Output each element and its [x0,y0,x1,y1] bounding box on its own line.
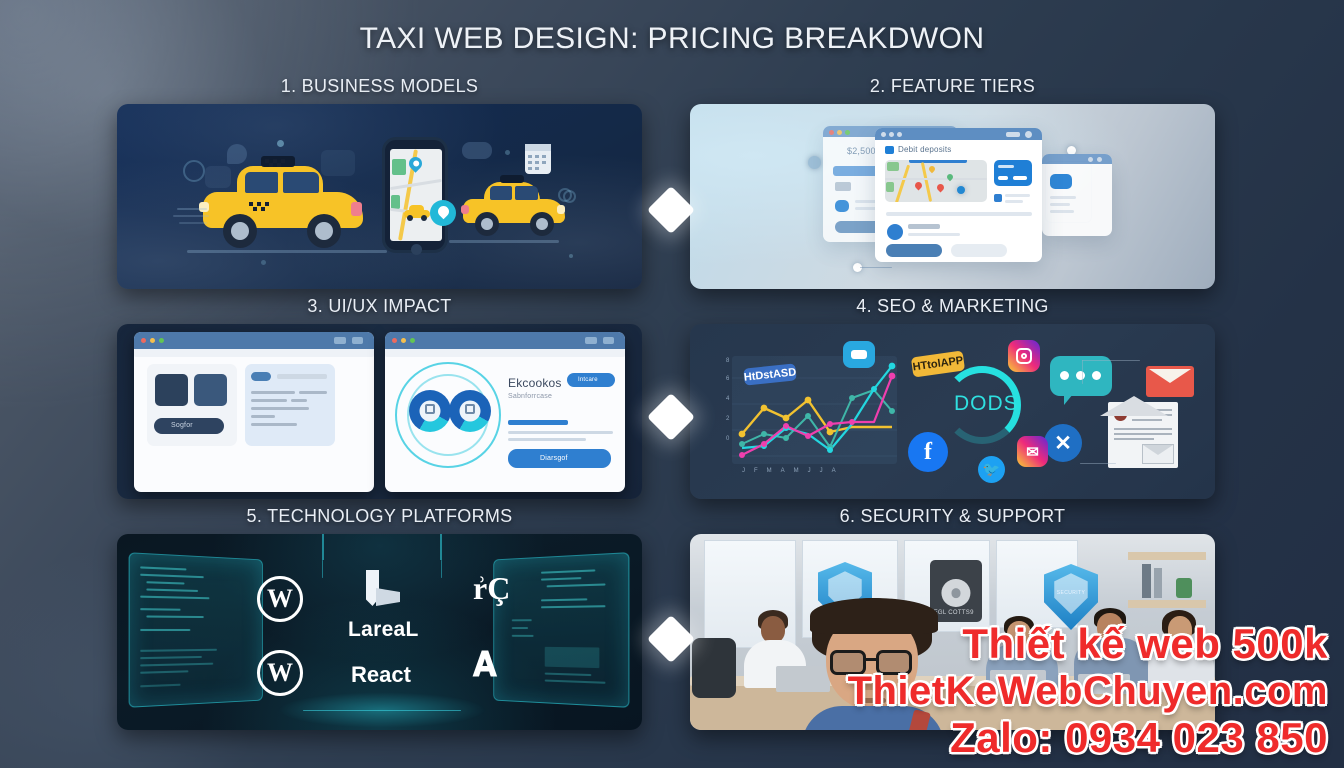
panel-left: Sogfor [147,364,237,446]
smartphone-icon [382,137,448,253]
decor-ring [558,188,572,202]
angular-logo-icon: 𝐀 [473,646,513,686]
holo-screen-left [129,552,263,708]
window-front[interactable]: Debit deposits [875,128,1042,262]
amount-label: $2,500 [847,146,876,156]
twitter-icon[interactable]: 🐦 [978,456,1005,483]
connector-line [1082,360,1083,384]
section-4-image[interactable]: 8 6 4 2 0 JFMAMJJA HtDstASD HTtolAPP DOD… [690,324,1215,499]
road-line [187,250,387,253]
section-3[interactable]: 3. UI/UX IMPACT Sogfor [117,296,642,499]
book [1142,564,1151,598]
bubble-tail [1064,394,1073,405]
book [1154,568,1162,598]
section-5-caption: 5. TECHNOLOGY PLATFORMS [117,506,642,527]
envelope-flap [1100,396,1168,416]
decor-dot [261,260,266,265]
react-logo-icon: r͗Ç [473,570,513,608]
badge-label: Intcare [578,377,598,383]
connector-line [860,267,892,268]
shelf [1128,552,1206,560]
decor-knob [808,156,821,169]
browser-right[interactable]: Ekcookos Sabnforrcase Intcare Diarsgof [385,332,625,492]
email-icon [1146,366,1194,397]
section-1[interactable]: 1. BUSINESS MODELS [117,76,642,289]
section-1-caption: 1. BUSINESS MODELS [117,76,642,97]
connector-line [1080,463,1116,464]
section-6-caption: 6. SECURITY & SUPPORT [690,506,1215,527]
plant [1176,578,1192,598]
section-5-image[interactable]: W W LareaL React r͗Ç 𝐀 [117,534,642,730]
section-2[interactable]: 2. FEATURE TIERS $2,500 [690,76,1215,289]
laravel-logo-icon [366,570,400,606]
panel-button-label: Sogfor [171,422,193,429]
watermark-line-2: ThietKeWebChuyen.com [848,669,1328,714]
decor-dot [569,254,573,258]
shelf [1128,600,1206,608]
payment-card [994,160,1032,186]
browser-left[interactable]: Sogfor [134,332,374,492]
section-3-caption: 3. UI/UX IMPACT [117,296,642,317]
section-4[interactable]: 4. SEO & MARKETING [690,296,1215,499]
section-1-image[interactable] [117,104,642,289]
section-2-caption: 2. FEATURE TIERS [690,76,1215,97]
taxi-large-icon [201,152,371,242]
section-3-image[interactable]: Sogfor [117,324,642,499]
comment-bubble-icon [1050,356,1112,396]
section-5[interactable]: 5. TECHNOLOGY PLATFORMS [117,506,642,730]
window-right [1042,154,1112,236]
window-title: Debit deposits [898,145,952,154]
subheading: Sabnforrcase [508,393,552,400]
taxi-small-icon [462,174,568,232]
speed-line [173,215,209,217]
section-2-image[interactable]: $2,500 [690,104,1215,289]
facebook-icon[interactable]: f [908,432,948,472]
shield-label: SECURITY [1050,590,1091,596]
watermark-line-1: Thiết kế web 500k [962,620,1328,668]
ceiling-beam [322,534,442,560]
location-badge-icon [430,200,456,226]
chat-bubble-icon [843,341,875,368]
mail-gradient-icon[interactable]: ✉ [1017,436,1048,467]
secondary-button[interactable] [951,244,1007,257]
watermark-line-3: Zalo: 0934 023 850 [950,714,1328,762]
avatar [887,224,903,240]
decor-dot [505,150,510,155]
section-4-caption: 4. SEO & MARKETING [690,296,1215,317]
wordpress-icon: W [257,650,303,696]
page-title: TAXI WEB DESIGN: PRICING BREAKDWON [0,22,1344,56]
primary-button[interactable] [886,244,942,257]
heading: Ekcookos [508,376,562,390]
x-icon[interactable]: ✕ [1044,424,1082,462]
map-thumbnail [885,160,987,202]
speed-line [177,208,207,210]
framework-primary-label: LareaL [348,618,419,642]
wordpress-icon: W [257,576,303,622]
section-row-1: 1. BUSINESS MODELS [0,76,1344,296]
road-line [449,240,559,243]
connector-line [1082,360,1140,361]
framework-secondary-label: React [351,662,411,688]
speed-line [179,222,207,224]
instagram-icon[interactable] [1008,340,1040,372]
panel-right [245,364,335,446]
node-glyph-icon [465,404,475,414]
decor-dot [277,140,284,147]
calendar-icon [525,144,551,174]
dods-label: DODS [954,392,1019,416]
holo-screen-right [493,552,629,708]
node-glyph-icon [425,404,435,414]
message-chip-icon [462,142,492,159]
office-chair [692,638,736,698]
cta-button-label: Diarsgof [540,455,568,462]
